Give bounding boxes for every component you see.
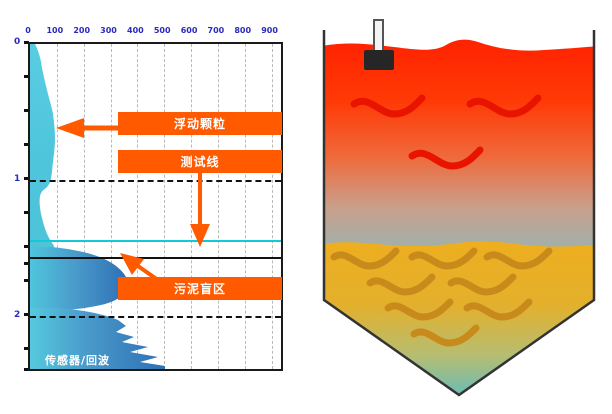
test-line-arrow-icon bbox=[189, 162, 211, 247]
plot-area bbox=[28, 42, 283, 371]
cyan-reference-line bbox=[30, 240, 281, 242]
upper-echo-area bbox=[30, 44, 55, 252]
figure-root: 0 100 200 300 400 500 600 700 800 900 0 … bbox=[0, 0, 612, 410]
x-tick-label: 0 bbox=[25, 26, 31, 35]
x-tick-label: 100 bbox=[46, 26, 63, 35]
callout-test-line[interactable]: 测试线 bbox=[118, 150, 282, 173]
x-tick-label: 300 bbox=[100, 26, 117, 35]
tank-contents bbox=[316, 40, 602, 400]
x-tick-label: 900 bbox=[261, 26, 278, 35]
x-tick-label: 700 bbox=[208, 26, 225, 35]
x-tick-label: 200 bbox=[73, 26, 90, 35]
callout-sludge-blind-zone[interactable]: 污泥盲区 bbox=[118, 277, 282, 300]
callout-floating-particles[interactable]: 浮动颗粒 bbox=[118, 112, 282, 135]
depth-line-1 bbox=[30, 180, 281, 182]
echo-waveform bbox=[30, 44, 281, 369]
x-tick-label: 600 bbox=[181, 26, 198, 35]
depth-line-2 bbox=[30, 316, 281, 318]
x-tick-label: 500 bbox=[154, 26, 171, 35]
x-tick-label: 400 bbox=[127, 26, 144, 35]
x-axis: 0 100 200 300 400 500 600 700 800 900 bbox=[28, 26, 283, 42]
tank-svg bbox=[306, 0, 612, 410]
sensor-echo-caption: 传感器/回波 bbox=[45, 352, 110, 368]
y-tick-label: 0 bbox=[14, 37, 20, 47]
ultrasonic-sensor-icon[interactable] bbox=[364, 50, 394, 70]
x-tick-label: 800 bbox=[234, 26, 251, 35]
echo-profile-chart: 0 100 200 300 400 500 600 700 800 900 0 … bbox=[0, 0, 306, 410]
y-tick-label: 1 bbox=[14, 174, 20, 184]
y-tick-label: 2 bbox=[14, 310, 20, 320]
tank-diagram bbox=[306, 0, 612, 410]
